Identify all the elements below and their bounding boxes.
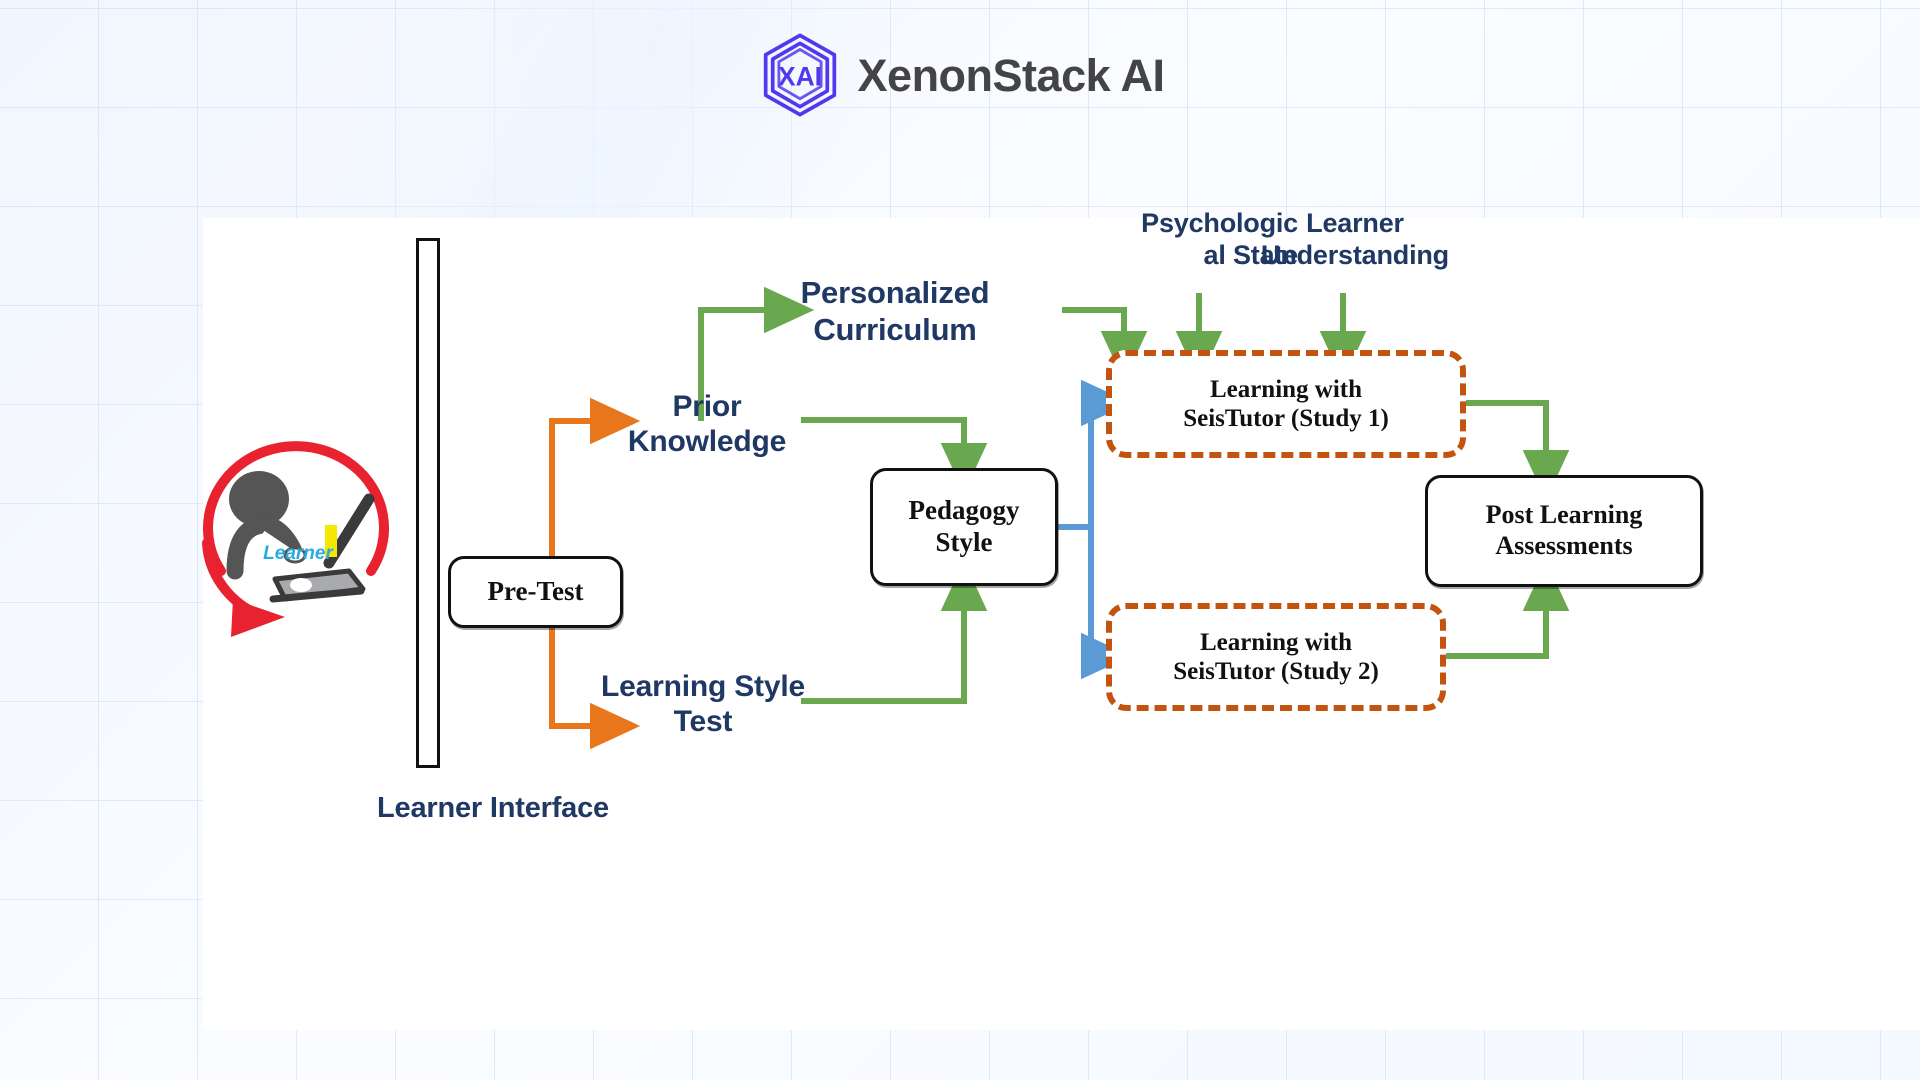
node-learning-style-test-line2: Test [674, 704, 733, 739]
svg-text:XAI: XAI [778, 62, 822, 92]
node-pre-test-label: Pre-Test [488, 576, 584, 608]
node-prior-knowledge: Prior Knowledge [611, 390, 803, 458]
node-learner-understanding: Learner Understanding [1246, 204, 1464, 276]
node-personalized-curriculum-line2: Curriculum [813, 312, 976, 349]
node-seistutor-study-2[interactable]: Learning with SeisTutor (Study 2) [1106, 603, 1446, 711]
diagram-card: Learner Pre-Test Prior Knowledge Learnin… [203, 218, 1920, 1030]
node-learning-style-test: Learning Style Test [587, 670, 819, 738]
learner-interface-label-text: Learner Interface [377, 791, 609, 825]
node-learning-style-test-line1: Learning Style [601, 669, 805, 704]
xai-hexagon-logo-icon: XAI [756, 31, 844, 119]
node-post-learning-assessments-line2: Assessments [1495, 531, 1632, 562]
node-post-learning-assessments-line1: Post Learning [1486, 500, 1643, 531]
node-pedagogy-style-line2: Style [936, 527, 993, 559]
edge-prior-knowledge-to-pedagogy-style [801, 420, 964, 468]
seistutor-flow-diagram: Learner Pre-Test Prior Knowledge Learnin… [203, 218, 1920, 1030]
edge-study1-to-post-assessments [1466, 403, 1546, 475]
node-learner-understanding-line2: Understanding [1261, 240, 1449, 272]
brand-title: XenonStack AI [858, 53, 1165, 98]
node-seistutor-study-2-line2: SeisTutor (Study 2) [1173, 657, 1379, 687]
node-pre-test[interactable]: Pre-Test [448, 556, 623, 628]
node-learner-understanding-line1: Learner [1306, 208, 1404, 240]
node-seistutor-study-1-line2: SeisTutor (Study 1) [1183, 404, 1389, 434]
node-seistutor-study-1[interactable]: Learning with SeisTutor (Study 1) [1106, 350, 1466, 458]
node-personalized-curriculum-line1: Personalized [801, 275, 990, 312]
node-prior-knowledge-line1: Prior [672, 389, 741, 424]
page-header: XAI XenonStack AI [0, 0, 1920, 150]
edge-personalized-curriculum-to-study1 [1062, 310, 1124, 356]
node-pedagogy-style[interactable]: Pedagogy Style [870, 468, 1058, 586]
node-seistutor-study-1-line1: Learning with [1210, 375, 1362, 405]
node-post-learning-assessments[interactable]: Post Learning Assessments [1425, 475, 1703, 587]
learner-caption: Learner [213, 543, 383, 565]
node-pedagogy-style-line1: Pedagogy [909, 495, 1020, 527]
edge-learning-style-test-to-pedagogy-style [801, 586, 964, 701]
node-personalized-curriculum: Personalized Curriculum [767, 276, 1023, 348]
page-root: XAI XenonStack AI [0, 0, 1920, 1080]
learner-at-laptop-icon: Learner [173, 403, 423, 653]
learner-interface-label: Learner Interface [343, 788, 643, 828]
node-prior-knowledge-line2: Knowledge [628, 424, 786, 459]
node-seistutor-study-2-line1: Learning with [1200, 628, 1352, 658]
edge-study2-to-post-assessments [1446, 586, 1546, 656]
